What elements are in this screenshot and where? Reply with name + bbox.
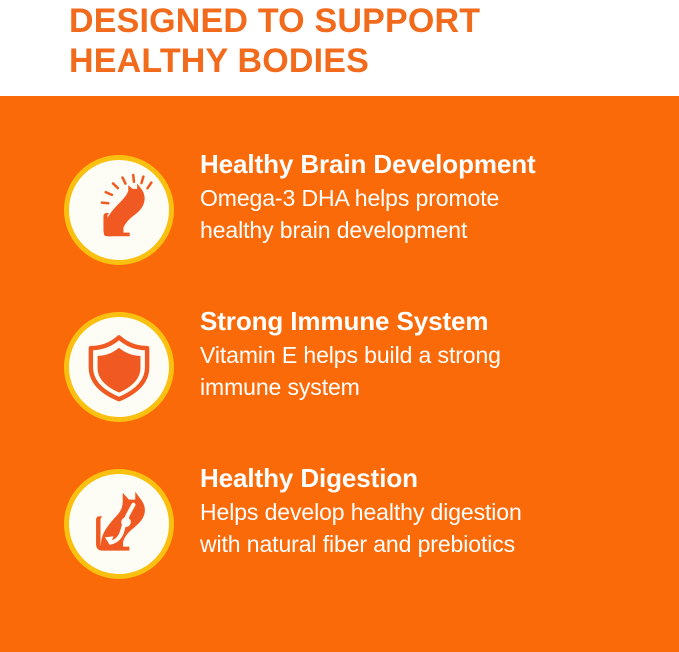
icon-disc bbox=[64, 155, 174, 265]
benefit-text-1: Strong Immune System Vitamin E helps bui… bbox=[200, 305, 670, 403]
shield-icon bbox=[82, 330, 156, 404]
benefit-description: Vitamin E helps build a strong immune sy… bbox=[200, 339, 670, 403]
benefits-panel: Healthy Brain Development Omega-3 DHA he… bbox=[0, 96, 679, 652]
benefit-title: Healthy Digestion bbox=[200, 462, 670, 494]
benefit-icon-0 bbox=[64, 155, 174, 265]
icon-disc bbox=[64, 312, 174, 422]
benefit-icon-2 bbox=[64, 469, 174, 579]
benefit-title: Strong Immune System bbox=[200, 305, 670, 337]
icon-disc bbox=[64, 469, 174, 579]
promo-panel: DESIGNED TO SUPPORT HEALTHY BODIES bbox=[0, 0, 679, 652]
benefit-description: Omega-3 DHA helps promote healthy brain … bbox=[200, 182, 670, 246]
benefit-text-2: Healthy Digestion Helps develop healthy … bbox=[200, 462, 670, 560]
benefit-text-0: Healthy Brain Development Omega-3 DHA he… bbox=[200, 148, 670, 246]
page-title: DESIGNED TO SUPPORT HEALTHY BODIES bbox=[69, 1, 669, 81]
cat-radiating-head-icon bbox=[82, 173, 156, 247]
benefit-icon-1 bbox=[64, 312, 174, 422]
benefit-title: Healthy Brain Development bbox=[200, 148, 670, 180]
header-band: DESIGNED TO SUPPORT HEALTHY BODIES bbox=[0, 0, 679, 96]
cat-digestion-arrow-icon bbox=[82, 487, 156, 561]
benefit-description: Helps develop healthy digestion with nat… bbox=[200, 496, 670, 560]
